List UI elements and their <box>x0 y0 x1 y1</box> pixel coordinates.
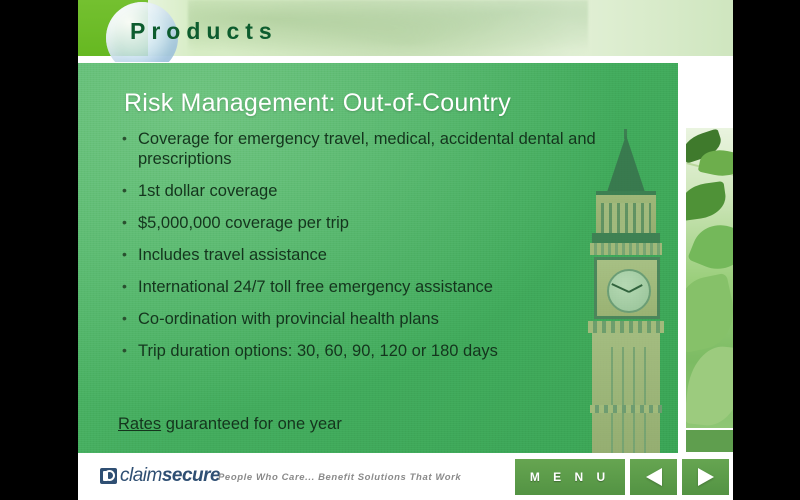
slide-footer: claim secure People Who Care... Benefit … <box>78 453 733 500</box>
slide-header: Products <box>78 0 733 62</box>
list-item: 1st dollar coverage <box>118 181 638 201</box>
list-item: Includes travel assistance <box>118 245 638 265</box>
screenshot-stage: Products <box>0 0 800 500</box>
list-item: Coverage for emergency travel, medical, … <box>118 129 638 169</box>
rates-underlined: Rates <box>118 415 161 433</box>
slide-title: Risk Management: Out-of-Country <box>124 89 511 118</box>
swatch-green[interactable] <box>686 430 733 452</box>
menu-button[interactable]: M E N U <box>515 459 625 495</box>
leaf-photo <box>686 128 733 428</box>
triangle-left-icon <box>646 468 662 486</box>
next-slide-button[interactable] <box>682 459 729 495</box>
previous-slide-button[interactable] <box>630 459 677 495</box>
logo-claim-text: claim <box>120 465 162 487</box>
slide-body: Risk Management: Out-of-Country Coverage… <box>78 63 733 453</box>
presentation-slide: Products <box>78 0 733 500</box>
logo-secure-text: secure <box>162 465 220 487</box>
list-item: Co-ordination with provincial health pla… <box>118 309 638 329</box>
triangle-right-icon <box>698 468 714 486</box>
logo-mark-icon <box>100 468 117 484</box>
list-item: Trip duration options: 30, 60, 90, 120 o… <box>118 341 638 361</box>
rates-note-rest: guaranteed for one year <box>161 415 342 433</box>
list-item: International 24/7 toll free emergency a… <box>118 277 638 297</box>
footer-tagline: People Who Care... Benefit Solutions Tha… <box>218 472 461 483</box>
list-item: $5,000,000 coverage per trip <box>118 213 638 233</box>
right-sidebar <box>682 126 733 500</box>
bullet-list: Coverage for emergency travel, medical, … <box>118 129 638 373</box>
rates-note: Rates guaranteed for one year <box>118 415 342 434</box>
page-title: Products <box>130 18 278 45</box>
claimsecure-logo: claim secure <box>100 465 220 487</box>
content-panel: Risk Management: Out-of-Country Coverage… <box>78 63 678 453</box>
header-white-rule <box>78 56 733 62</box>
